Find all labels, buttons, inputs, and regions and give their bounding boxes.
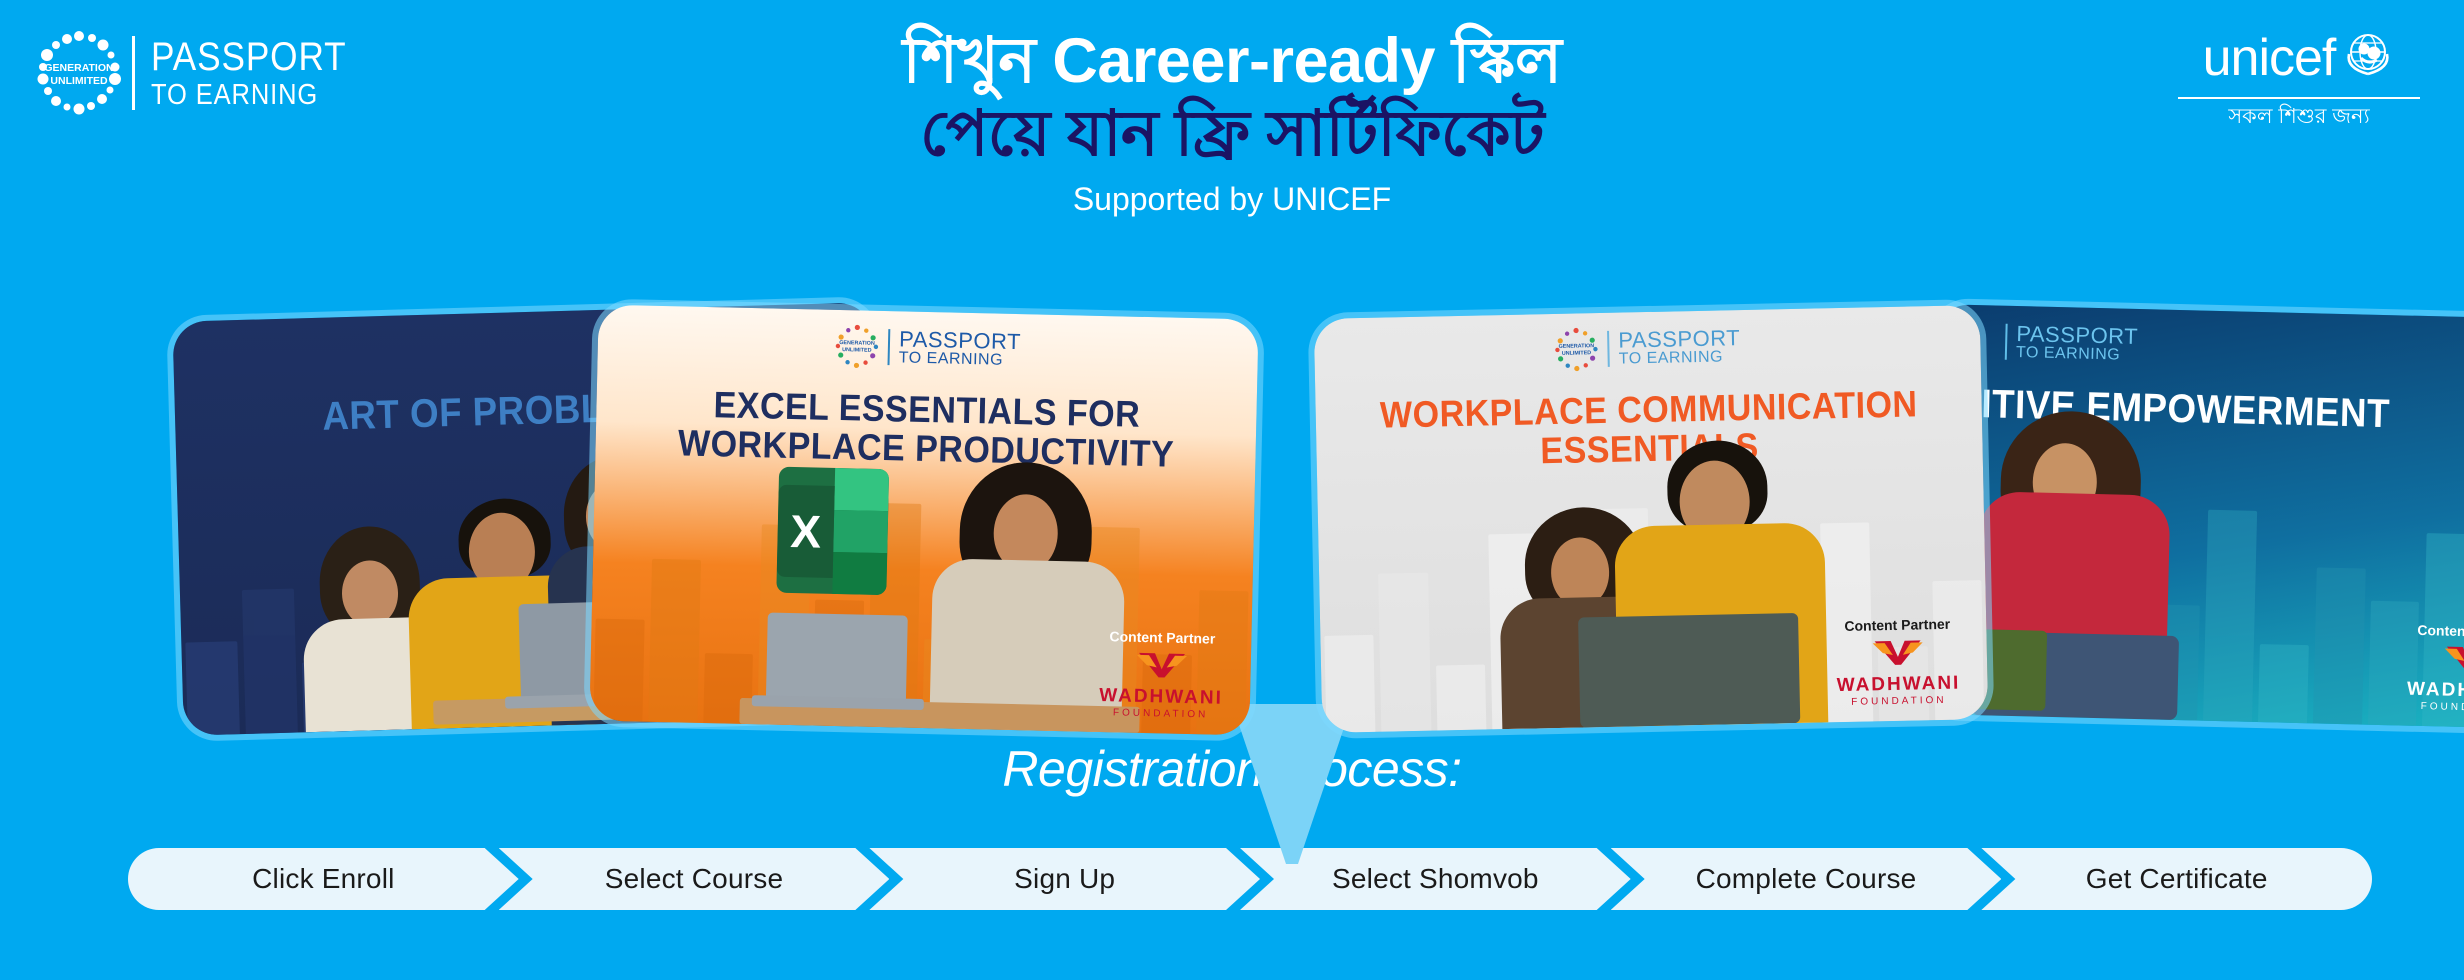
- step-label: Select Course: [605, 863, 783, 895]
- svg-text:GENERATION: GENERATION: [1559, 343, 1595, 350]
- content-partner-block: Content Partner WADHWANI FOUNDATION: [1090, 629, 1234, 721]
- step-click-enroll[interactable]: Click Enroll: [128, 848, 519, 910]
- unicef-globe-emblem-icon: [2341, 28, 2395, 87]
- card-logo: GENERATION UNLIMITED PASSPORT TO EARNING: [1314, 319, 1981, 377]
- content-partner-name: WADHWANI: [2398, 679, 2464, 701]
- svg-text:GENERATION: GENERATION: [839, 340, 875, 347]
- svg-text:UNLIMITED: UNLIMITED: [842, 347, 872, 354]
- svg-text:UNLIMITED: UNLIMITED: [50, 75, 108, 87]
- step-complete-course[interactable]: Complete Course: [1611, 848, 2002, 910]
- content-partner-name: WADHWANI: [1827, 673, 1969, 695]
- wordmark-line-1: PASSPORT: [151, 37, 346, 77]
- generation-unlimited-logo: GENERATION UNLIMITED PASSPORT TO EARNING: [36, 30, 373, 116]
- content-partner-block: Content Partner WADHWANI FOUNDATION: [2397, 622, 2464, 714]
- generation-unlimited-ring-icon: GENERATION UNLIMITED: [36, 30, 122, 116]
- excel-icon-letter: X: [777, 485, 835, 578]
- unicef-tagline: সকল শিশুর জন্য: [2174, 105, 2424, 128]
- content-partner-name: WADHWANI: [1090, 686, 1232, 708]
- registration-steps: Click Enroll Select Course Sign Up Selec…: [128, 848, 2372, 910]
- step-label: Sign Up: [1014, 863, 1115, 895]
- passport-to-earning-wordmark: PASSPORT TO EARNING: [151, 37, 373, 110]
- subheadline: Supported by UNICEF: [0, 181, 2464, 218]
- wadhwani-foundation-icon: [2442, 643, 2464, 674]
- card-logo-line-2: TO EARNING: [1619, 349, 1741, 368]
- wadhwani-foundation-icon: [1134, 649, 1189, 680]
- logo-divider: [132, 36, 135, 110]
- promo-banner: GENERATION UNLIMITED PASSPORT TO EARNING…: [0, 0, 2464, 980]
- step-label: Select Shomvob: [1332, 863, 1539, 895]
- microsoft-excel-icon: X: [776, 467, 889, 595]
- wadhwani-foundation-icon: [1871, 636, 1926, 667]
- registration-process-title: Registration process:: [0, 740, 2464, 798]
- generation-unlimited-ring-icon: GENERATION UNLIMITED: [835, 324, 880, 369]
- unicef-wordmark: unicef: [2203, 32, 2336, 84]
- content-partner-block: Content Partner WADHWANI FOUNDATION: [1826, 616, 1970, 708]
- svg-text:UNLIMITED: UNLIMITED: [1562, 350, 1592, 357]
- course-card-workplace-communication[interactable]: GENERATION UNLIMITED PASSPORT TO EARNING…: [1314, 305, 1989, 733]
- course-card-excel-essentials[interactable]: GENERATION UNLIMITED PASSPORT TO EARNING…: [589, 305, 1258, 736]
- wordmark-line-2: TO EARNING: [151, 81, 346, 110]
- step-get-certificate[interactable]: Get Certificate: [1981, 848, 2372, 910]
- card-logo-line-2: TO EARNING: [2016, 345, 2138, 364]
- svg-text:GENERATION: GENERATION: [44, 62, 113, 74]
- generation-unlimited-ring-icon: GENERATION UNLIMITED: [1554, 327, 1599, 372]
- unicef-logo: unicef সকল শিশুর জন্য: [2174, 28, 2424, 128]
- step-label: Get Certificate: [2086, 863, 2268, 895]
- course-card-cognitive-empowerment[interactable]: PASSPORT TO EARNING COGNITIVE EMPOWERMEN…: [1925, 304, 2464, 730]
- content-partner-label: Content Partner: [2399, 622, 2464, 639]
- step-label: Click Enroll: [252, 863, 394, 895]
- unicef-rule: [2178, 97, 2420, 99]
- step-select-course[interactable]: Select Course: [499, 848, 890, 910]
- content-partner-label: Content Partner: [1826, 616, 1968, 633]
- step-label: Complete Course: [1696, 863, 1917, 895]
- card-logo: GENERATION UNLIMITED PASSPORT TO EARNING: [597, 319, 1258, 378]
- card-logo-line-2: TO EARNING: [899, 350, 1021, 369]
- step-sign-up[interactable]: Sign Up: [869, 848, 1260, 910]
- content-partner-label: Content Partner: [1091, 629, 1233, 646]
- course-card-carousel[interactable]: GENERATION UNLIMITED PASSPORT TO EARNING…: [0, 312, 2464, 742]
